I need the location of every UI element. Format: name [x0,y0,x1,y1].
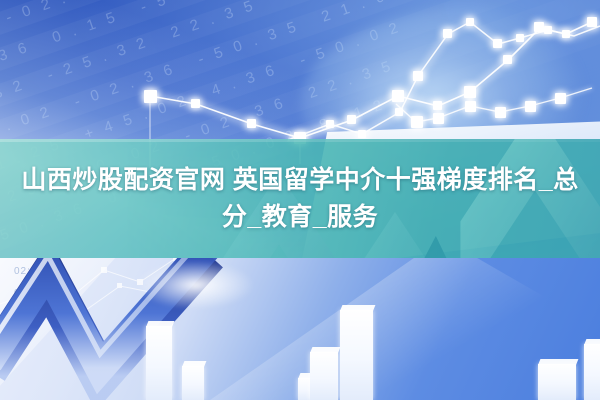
bar-top-cap [310,347,340,353]
series-upper [150,22,592,138]
bar-top-cap [182,361,206,367]
bar-top-cap [584,339,600,345]
band-top-edge [0,139,600,142]
bar [310,352,338,400]
bar-top-cap [146,321,174,327]
page-title-line-1: 山西炒股配资官网 英国留学中介十强梯度排名_总 [8,162,592,199]
bar [182,366,204,400]
page-title-line-2: 分_教育_服务 [8,199,592,236]
light-glow [110,258,280,320]
bar [340,310,373,400]
bar [584,344,600,400]
bar [538,364,576,400]
banner-image: -99.02 -02.36 -50.35 21.05 -50.35 -11.25… [0,0,600,400]
bar-top-cap [538,359,578,365]
lower-graphic-panel: 02:32 05:32 [0,258,600,400]
bar [146,326,172,400]
page-title: 山西炒股配资官网 英国留学中介十强梯度排名_总 分_教育_服务 [0,162,600,236]
bar-top-cap [340,305,375,311]
